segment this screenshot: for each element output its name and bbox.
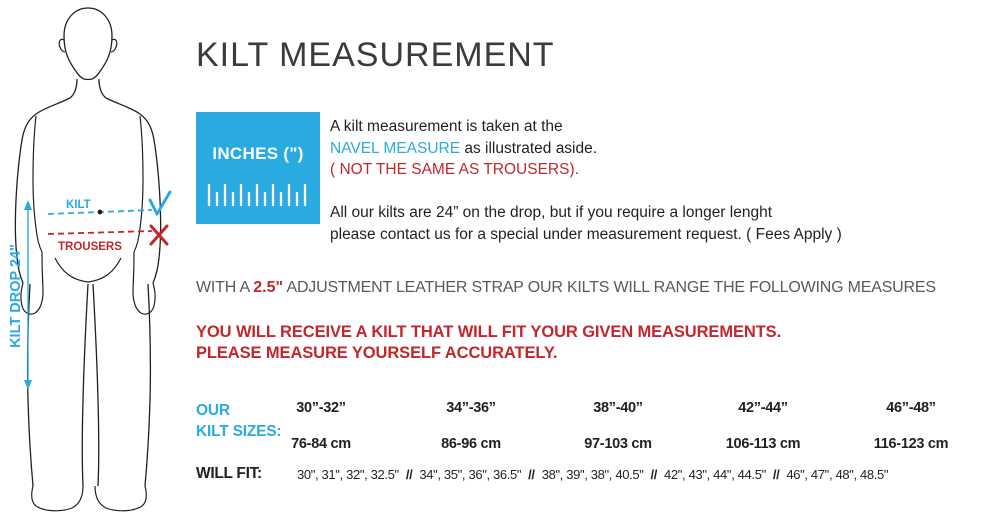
- size-column-1: 30”-32” 76-84 cm: [251, 400, 391, 452]
- drop-note-line-1: All our kilts are 24” on the drop, but i…: [330, 202, 842, 224]
- navel-point: [98, 210, 103, 215]
- will-fit-separator-1: //: [399, 467, 420, 482]
- figure-head: [64, 8, 112, 80]
- will-fit-separator-3: //: [644, 467, 665, 482]
- body-figure-illustration: KILT TROUSERS KILT DROP 24": [0, 0, 200, 531]
- size-inches-5: 46”-48”: [841, 400, 981, 416]
- size-cm-4: 106-113 cm: [693, 436, 833, 452]
- illustration-panel: KILT TROUSERS KILT DROP 24": [0, 0, 200, 531]
- kilt-line-label: KILT: [66, 199, 91, 211]
- figure-hand-right: [133, 252, 155, 314]
- page-title: KILT MEASUREMENT: [196, 36, 555, 75]
- size-cm-1: 76-84 cm: [251, 436, 391, 452]
- size-inches-2: 34”-36”: [401, 400, 541, 416]
- cross-mark-icon: [151, 226, 167, 244]
- kilt-drop-arrow-bottom: [24, 380, 32, 390]
- intro-line-3-warning: ( NOT THE SAME AS TROUSERS).: [330, 159, 597, 181]
- size-column-2: 34”-36” 86-96 cm: [401, 400, 541, 452]
- will-fit-1: 30", 31", 32", 32.5": [297, 467, 399, 482]
- figure-foot-left: [32, 486, 83, 511]
- size-column-3: 38”-40” 97-103 cm: [548, 400, 688, 452]
- inches-measure-box: INCHES ("): [196, 112, 320, 224]
- ruler-ticks-icon: [206, 182, 312, 208]
- inches-box-label: INCHES ("): [196, 144, 320, 164]
- figure-leg-inner-right: [93, 284, 99, 486]
- intro-line-2-rest: as illustrated aside.: [460, 140, 597, 157]
- size-cm-3: 97-103 cm: [548, 436, 688, 452]
- will-fit-2: 34", 35", 36", 36.5": [419, 467, 521, 482]
- intro-line-1: A kilt measurement is taken at the: [330, 116, 597, 138]
- figure-crotch: [55, 258, 121, 282]
- size-cm-2: 86-96 cm: [401, 436, 541, 452]
- drop-note-paragraph: All our kilts are 24” on the drop, but i…: [330, 202, 842, 245]
- will-fit-values: 30", 31", 32", 32.5"//34", 35", 36", 36.…: [297, 467, 888, 482]
- kilt-drop-label: KILT DROP 24": [8, 244, 24, 348]
- figure-hand-left: [21, 252, 43, 314]
- strap-range-line: WITH A 2.5" ADJUSTMENT LEATHER STRAP OUR…: [196, 279, 936, 297]
- will-fit-3: 38", 39", 38", 40.5": [542, 467, 644, 482]
- will-fit-4: 42", 43", 44", 44.5": [664, 467, 766, 482]
- navel-measure-highlight: NAVEL MEASURE: [330, 140, 460, 157]
- warning-line-2: PLEASE MEASURE YOURSELF ACCURATELY.: [196, 343, 781, 364]
- will-fit-label: WILL FIT:: [196, 465, 262, 483]
- size-inches-1: 30”-32”: [251, 400, 391, 416]
- figure-arm-inner-left: [33, 116, 42, 252]
- will-fit-separator-2: //: [521, 467, 542, 482]
- size-column-5: 46”-48” 116-123 cm: [841, 400, 981, 452]
- will-fit-separator-4: //: [766, 467, 787, 482]
- strap-line-before: WITH A: [196, 279, 253, 296]
- figure-foot-right: [95, 486, 146, 511]
- will-fit-row: WILL FIT: 30", 31", 32", 32.5"//34", 35"…: [196, 465, 996, 489]
- kilt-drop-arrow-top: [24, 200, 32, 210]
- accuracy-warning: YOU WILL RECEIVE A KILT THAT WILL FIT YO…: [196, 322, 781, 364]
- trousers-measure-line: [48, 231, 152, 234]
- size-column-4: 42”-44” 106-113 cm: [693, 400, 833, 452]
- intro-line-2: NAVEL MEASURE as illustrated aside.: [330, 138, 597, 160]
- size-cm-5: 116-123 cm: [841, 436, 981, 452]
- strap-adjustment-amount: 2.5": [253, 279, 283, 296]
- warning-line-1: YOU WILL RECEIVE A KILT THAT WILL FIT YO…: [196, 322, 781, 343]
- figure-leg-inner-left: [82, 284, 88, 486]
- size-inches-3: 38”-40”: [548, 400, 688, 416]
- will-fit-5: 46", 47", 48", 48.5": [786, 467, 888, 482]
- trousers-line-label: TROUSERS: [58, 241, 122, 253]
- drop-note-line-2: please contact us for a special under me…: [330, 224, 842, 246]
- intro-paragraph: A kilt measurement is taken at the NAVEL…: [330, 116, 597, 181]
- size-inches-4: 42”-44”: [693, 400, 833, 416]
- strap-line-after: ADJUSTMENT LEATHER STRAP OUR KILTS WILL …: [283, 279, 936, 296]
